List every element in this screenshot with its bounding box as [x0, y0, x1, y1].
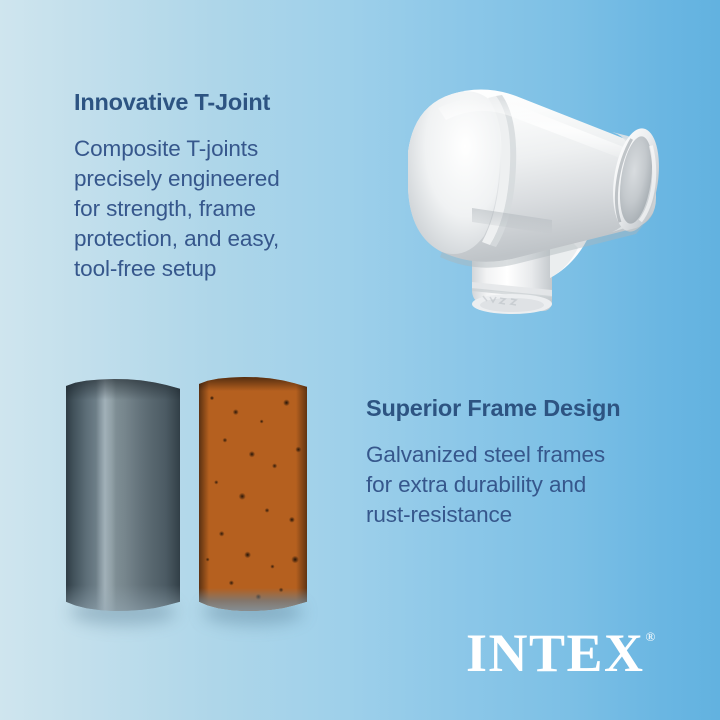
feature-heading-t-joint: Innovative T-Joint	[74, 90, 344, 116]
pipe-surface-galvanized	[66, 379, 180, 611]
pipe-top-edge	[199, 377, 307, 391]
feature-body-frame-design: Galvanized steel frames for extra durabi…	[366, 440, 666, 530]
pipe-right-edge	[296, 377, 307, 611]
body-line: for extra durability and	[366, 470, 666, 500]
pipe-rust-speckles	[199, 377, 307, 611]
body-line: tool-free setup	[74, 254, 344, 284]
pipe-body-shading	[66, 379, 180, 611]
body-line: rust-resistance	[366, 500, 666, 530]
t-joint-product-image	[380, 68, 670, 318]
pipe-left-edge	[199, 377, 209, 611]
feature-body-t-joint: Composite T-joints precisely engineered …	[74, 134, 344, 284]
body-line: protection, and easy,	[74, 224, 344, 254]
pipe-gloss-highlight	[96, 379, 117, 611]
pipe-surface-rusted	[199, 377, 307, 611]
intex-logo: INTEX ®	[466, 626, 655, 680]
body-line: Composite T-joints	[74, 134, 344, 164]
body-line: Galvanized steel frames	[366, 440, 666, 470]
rusted-steel-pipe-section	[199, 377, 307, 611]
product-feature-poster: Innovative T-Joint Composite T-joints pr…	[0, 0, 720, 720]
pipe-top-edge	[66, 379, 180, 400]
intex-wordmark: INTEX	[466, 626, 645, 680]
feature-block-frame-design: Superior Frame Design Galvanized steel f…	[366, 396, 666, 530]
body-line: for strength, frame	[74, 194, 344, 224]
feature-block-t-joint: Innovative T-Joint Composite T-joints pr…	[74, 90, 344, 284]
galvanized-steel-pipe-section	[66, 379, 180, 611]
registered-trademark-icon: ®	[646, 630, 656, 643]
t-joint-horizontal-barrel	[408, 89, 665, 267]
body-line: precisely engineered	[74, 164, 344, 194]
feature-heading-frame-design: Superior Frame Design	[366, 396, 666, 422]
